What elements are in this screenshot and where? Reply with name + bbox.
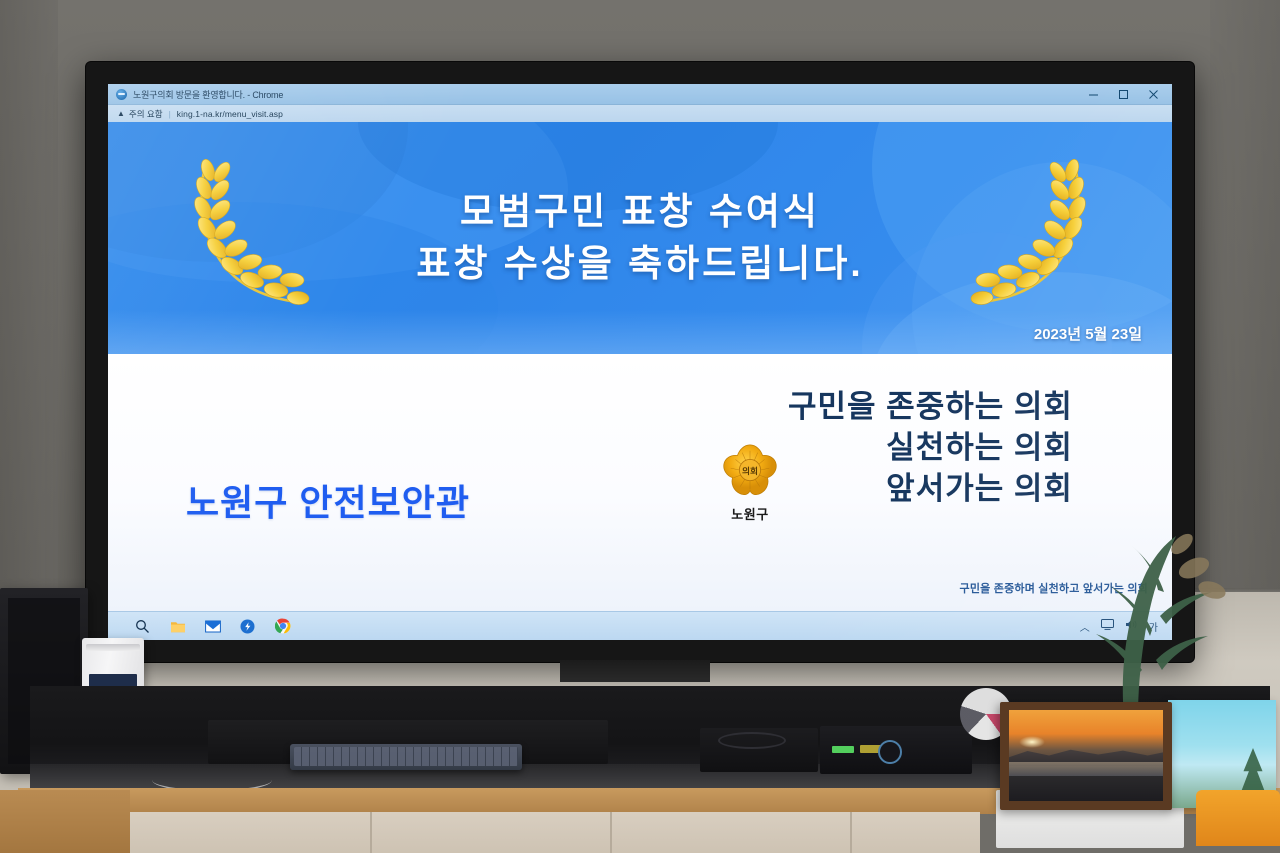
tv-display: 노원구의회 방문을 환영합니다. - Chrome bbox=[86, 62, 1194, 662]
celebration-banner: 모범구민 표창 수여식 표창 수상을 축하드립니다. 2023년 5월 23일 bbox=[108, 122, 1172, 354]
wall-left-column bbox=[0, 0, 58, 620]
url-text[interactable]: king.1-na.kr/menu_visit.asp bbox=[177, 109, 283, 119]
av-amplifier bbox=[820, 726, 972, 774]
room-scene: 노원구의회 방문을 환영합니다. - Chrome bbox=[0, 0, 1280, 853]
slogan-line-3: 앞서가는 의회 bbox=[886, 470, 1073, 508]
address-separator: | bbox=[169, 109, 171, 119]
maximize-button[interactable] bbox=[1108, 84, 1138, 104]
slogan-line-1: 구민을 존중하는 의회 bbox=[788, 388, 1073, 426]
chrome-icon[interactable] bbox=[274, 618, 291, 635]
chrome-window[interactable]: 노원구의회 방문을 환영합니다. - Chrome bbox=[108, 84, 1172, 612]
page-body: 노원구 안전보안관 bbox=[108, 354, 1172, 612]
taskbar-icons bbox=[134, 618, 291, 635]
web-page-content: 모범구민 표창 수여식 표창 수상을 축하드립니다. 2023년 5월 23일 … bbox=[108, 122, 1172, 612]
photo-image bbox=[1009, 710, 1163, 801]
address-bar[interactable]: ▲ 주의 요함 | king.1-na.kr/menu_visit.asp bbox=[108, 105, 1172, 123]
photo-frame bbox=[1000, 702, 1172, 810]
pouch-seal bbox=[86, 644, 140, 651]
slogan-line-2: 실천하는 의회 bbox=[886, 429, 1073, 467]
minimize-button[interactable] bbox=[1078, 84, 1108, 104]
edge-icon[interactable] bbox=[239, 618, 256, 635]
emblem-label: 노원구 bbox=[731, 504, 768, 523]
file-explorer-icon[interactable] bbox=[169, 618, 186, 635]
banner-title-line1: 모범구민 표창 수여식 bbox=[460, 189, 820, 235]
orange-object bbox=[1196, 790, 1280, 846]
council-slogan: 구민을 존중하는 의회 실천하는 의회 앞서가는 의회 bbox=[788, 388, 1073, 507]
plant bbox=[1072, 520, 1232, 720]
keyboard-keys bbox=[294, 747, 518, 766]
banner-date: 2023년 5월 23일 bbox=[1034, 323, 1142, 344]
av-led-display bbox=[832, 746, 854, 753]
left-heading: 노원구 안전보안관 bbox=[186, 474, 470, 526]
site-favicon bbox=[116, 89, 127, 100]
council-emblem-icon: 의회 bbox=[721, 442, 779, 500]
banner-title-line2: 표창 수상을 축하드립니다. bbox=[416, 241, 863, 287]
windows-taskbar[interactable]: ︿ 가 bbox=[108, 611, 1172, 640]
cabinet-doors bbox=[130, 812, 980, 853]
close-button[interactable] bbox=[1138, 84, 1168, 104]
banner-text-block: 모범구민 표창 수여식 표창 수상을 축하드립니다. bbox=[108, 122, 1172, 354]
photo-sun bbox=[1019, 736, 1045, 748]
keyboard bbox=[290, 744, 522, 770]
svg-text:의회: 의회 bbox=[742, 465, 758, 477]
search-icon[interactable] bbox=[134, 618, 151, 635]
security-warning-label: 주의 요함 bbox=[129, 108, 163, 120]
tab-title[interactable]: 노원구의회 방문을 환영합니다. - Chrome bbox=[133, 88, 283, 101]
cabinet-wood-side bbox=[0, 790, 130, 853]
council-emblem-block: 의회 노원구 bbox=[708, 442, 792, 523]
av-dial bbox=[878, 740, 902, 764]
warning-triangle-icon: ▲ bbox=[117, 110, 125, 118]
tv-screen-area: 노원구의회 방문을 환영합니다. - Chrome bbox=[108, 84, 1172, 640]
cabinet-divider bbox=[850, 812, 852, 853]
photo-water bbox=[1009, 762, 1163, 776]
cabinet-divider bbox=[610, 812, 612, 853]
mail-icon[interactable] bbox=[204, 618, 221, 635]
tv-stand bbox=[560, 660, 710, 682]
window-controls bbox=[1078, 84, 1168, 104]
chrome-titlebar[interactable]: 노원구의회 방문을 환영합니다. - Chrome bbox=[108, 84, 1172, 105]
cabinet-divider bbox=[370, 812, 372, 853]
windows-desktop: 노원구의회 방문을 환영합니다. - Chrome bbox=[108, 84, 1172, 640]
av-receiver bbox=[700, 728, 818, 772]
